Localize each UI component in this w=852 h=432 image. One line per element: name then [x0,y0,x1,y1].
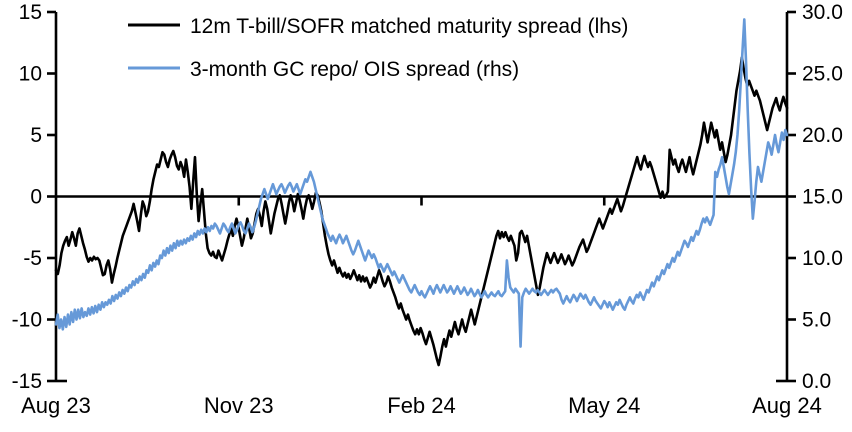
right-axis-tick-label: 0.0 [802,370,831,393]
right-axis-tick-label: 25.0 [802,63,843,86]
x-axis-tick-label: Aug 23 [21,393,91,418]
x-axis-tick-label: Nov 23 [204,393,274,418]
chart-container: 151050-5-10-15 30.025.020.015.010.05.00.… [0,0,852,432]
legend-entry-label: 3-month GC repo/ OIS spread (rhs) [190,58,519,81]
left-axis-tick-label: 10 [19,63,42,86]
right-axis-tick-label: 5.0 [802,309,831,332]
left-axis-tick-label: -10 [12,309,42,332]
left-axis-tick-label: 5 [30,124,42,147]
right-axis-tick-label: 10.0 [802,247,843,270]
x-axis-tick-label: Feb 24 [387,393,456,418]
right-axis-tick-label: 30.0 [802,1,843,24]
spread-line-chart: 151050-5-10-15 30.025.020.015.010.05.00.… [0,0,852,432]
left-axis-tick-label: 15 [19,1,42,24]
left-axis-tick-label: 0 [30,186,42,209]
left-axis-tick-label: -5 [23,247,42,270]
legend-entry-label: 12m T-bill/SOFR matched maturity spread … [190,15,628,38]
x-axis-tick-label: May 24 [568,393,640,418]
right-axis-tick-label: 20.0 [802,124,843,147]
x-axis-tick-label: Aug 24 [752,393,822,418]
right-axis-tick-label: 15.0 [802,186,843,209]
left-axis-tick-label: -15 [12,370,42,393]
